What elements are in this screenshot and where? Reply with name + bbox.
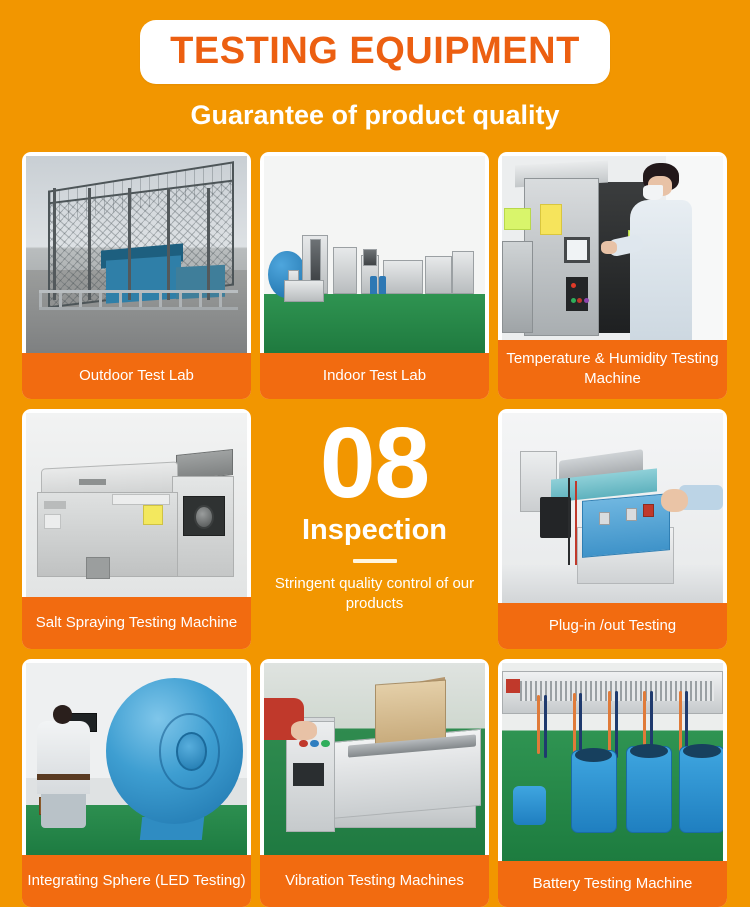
inspection-label: Inspection (302, 513, 447, 547)
page-header: TESTING EQUIPMENT Guarantee of product q… (0, 0, 750, 130)
card-caption: Plug-in /out Testing (498, 603, 727, 649)
inspection-description: Stringent quality control of our product… (260, 574, 489, 614)
equipment-card-indoor-test-lab[interactable]: Indoor Test Lab (260, 152, 489, 399)
battery-testing-machine-photo (502, 663, 723, 861)
card-caption: Vibration Testing Machines (260, 855, 489, 907)
equipment-card-temperature-humidity[interactable]: Temperature & Humidity Testing Machine (498, 152, 727, 399)
equipment-card-outdoor-test-lab[interactable]: Outdoor Test Lab (22, 152, 251, 399)
title-pill: TESTING EQUIPMENT (140, 20, 610, 84)
card-caption: Battery Testing Machine (498, 861, 727, 907)
integrating-sphere-led-testing-photo (26, 663, 247, 855)
card-caption: Indoor Test Lab (260, 353, 489, 399)
equipment-grid: Outdoor Test Lab Indoor Test Lab (22, 152, 728, 907)
page-subtitle: Guarantee of product quality (0, 100, 750, 130)
plug-in-out-testing-photo (502, 413, 723, 603)
equipment-card-plug-in-out-testing[interactable]: Plug-in /out Testing (498, 409, 727, 649)
vibration-testing-machines-photo (264, 663, 485, 855)
inspection-number: 08 (320, 415, 429, 511)
card-caption: Salt Spraying Testing Machine (22, 597, 251, 649)
outdoor-test-lab-photo (26, 156, 247, 353)
divider-rule (353, 559, 397, 563)
equipment-card-battery-testing[interactable]: Battery Testing Machine (498, 659, 727, 907)
indoor-test-lab-photo (264, 156, 485, 353)
card-caption: Outdoor Test Lab (22, 353, 251, 399)
equipment-card-vibration-testing[interactable]: Vibration Testing Machines (260, 659, 489, 907)
card-caption: Integrating Sphere (LED Testing) (22, 855, 251, 907)
equipment-card-integrating-sphere[interactable]: Integrating Sphere (LED Testing) (22, 659, 251, 907)
salt-spraying-testing-machine-photo (26, 413, 247, 597)
page-title: TESTING EQUIPMENT (170, 31, 580, 71)
equipment-card-salt-spraying[interactable]: Salt Spraying Testing Machine (22, 409, 251, 649)
inspection-feature-block: 08 Inspection Stringent quality control … (260, 409, 489, 649)
card-caption: Temperature & Humidity Testing Machine (498, 340, 727, 399)
temperature-humidity-testing-machine-photo (502, 156, 723, 340)
